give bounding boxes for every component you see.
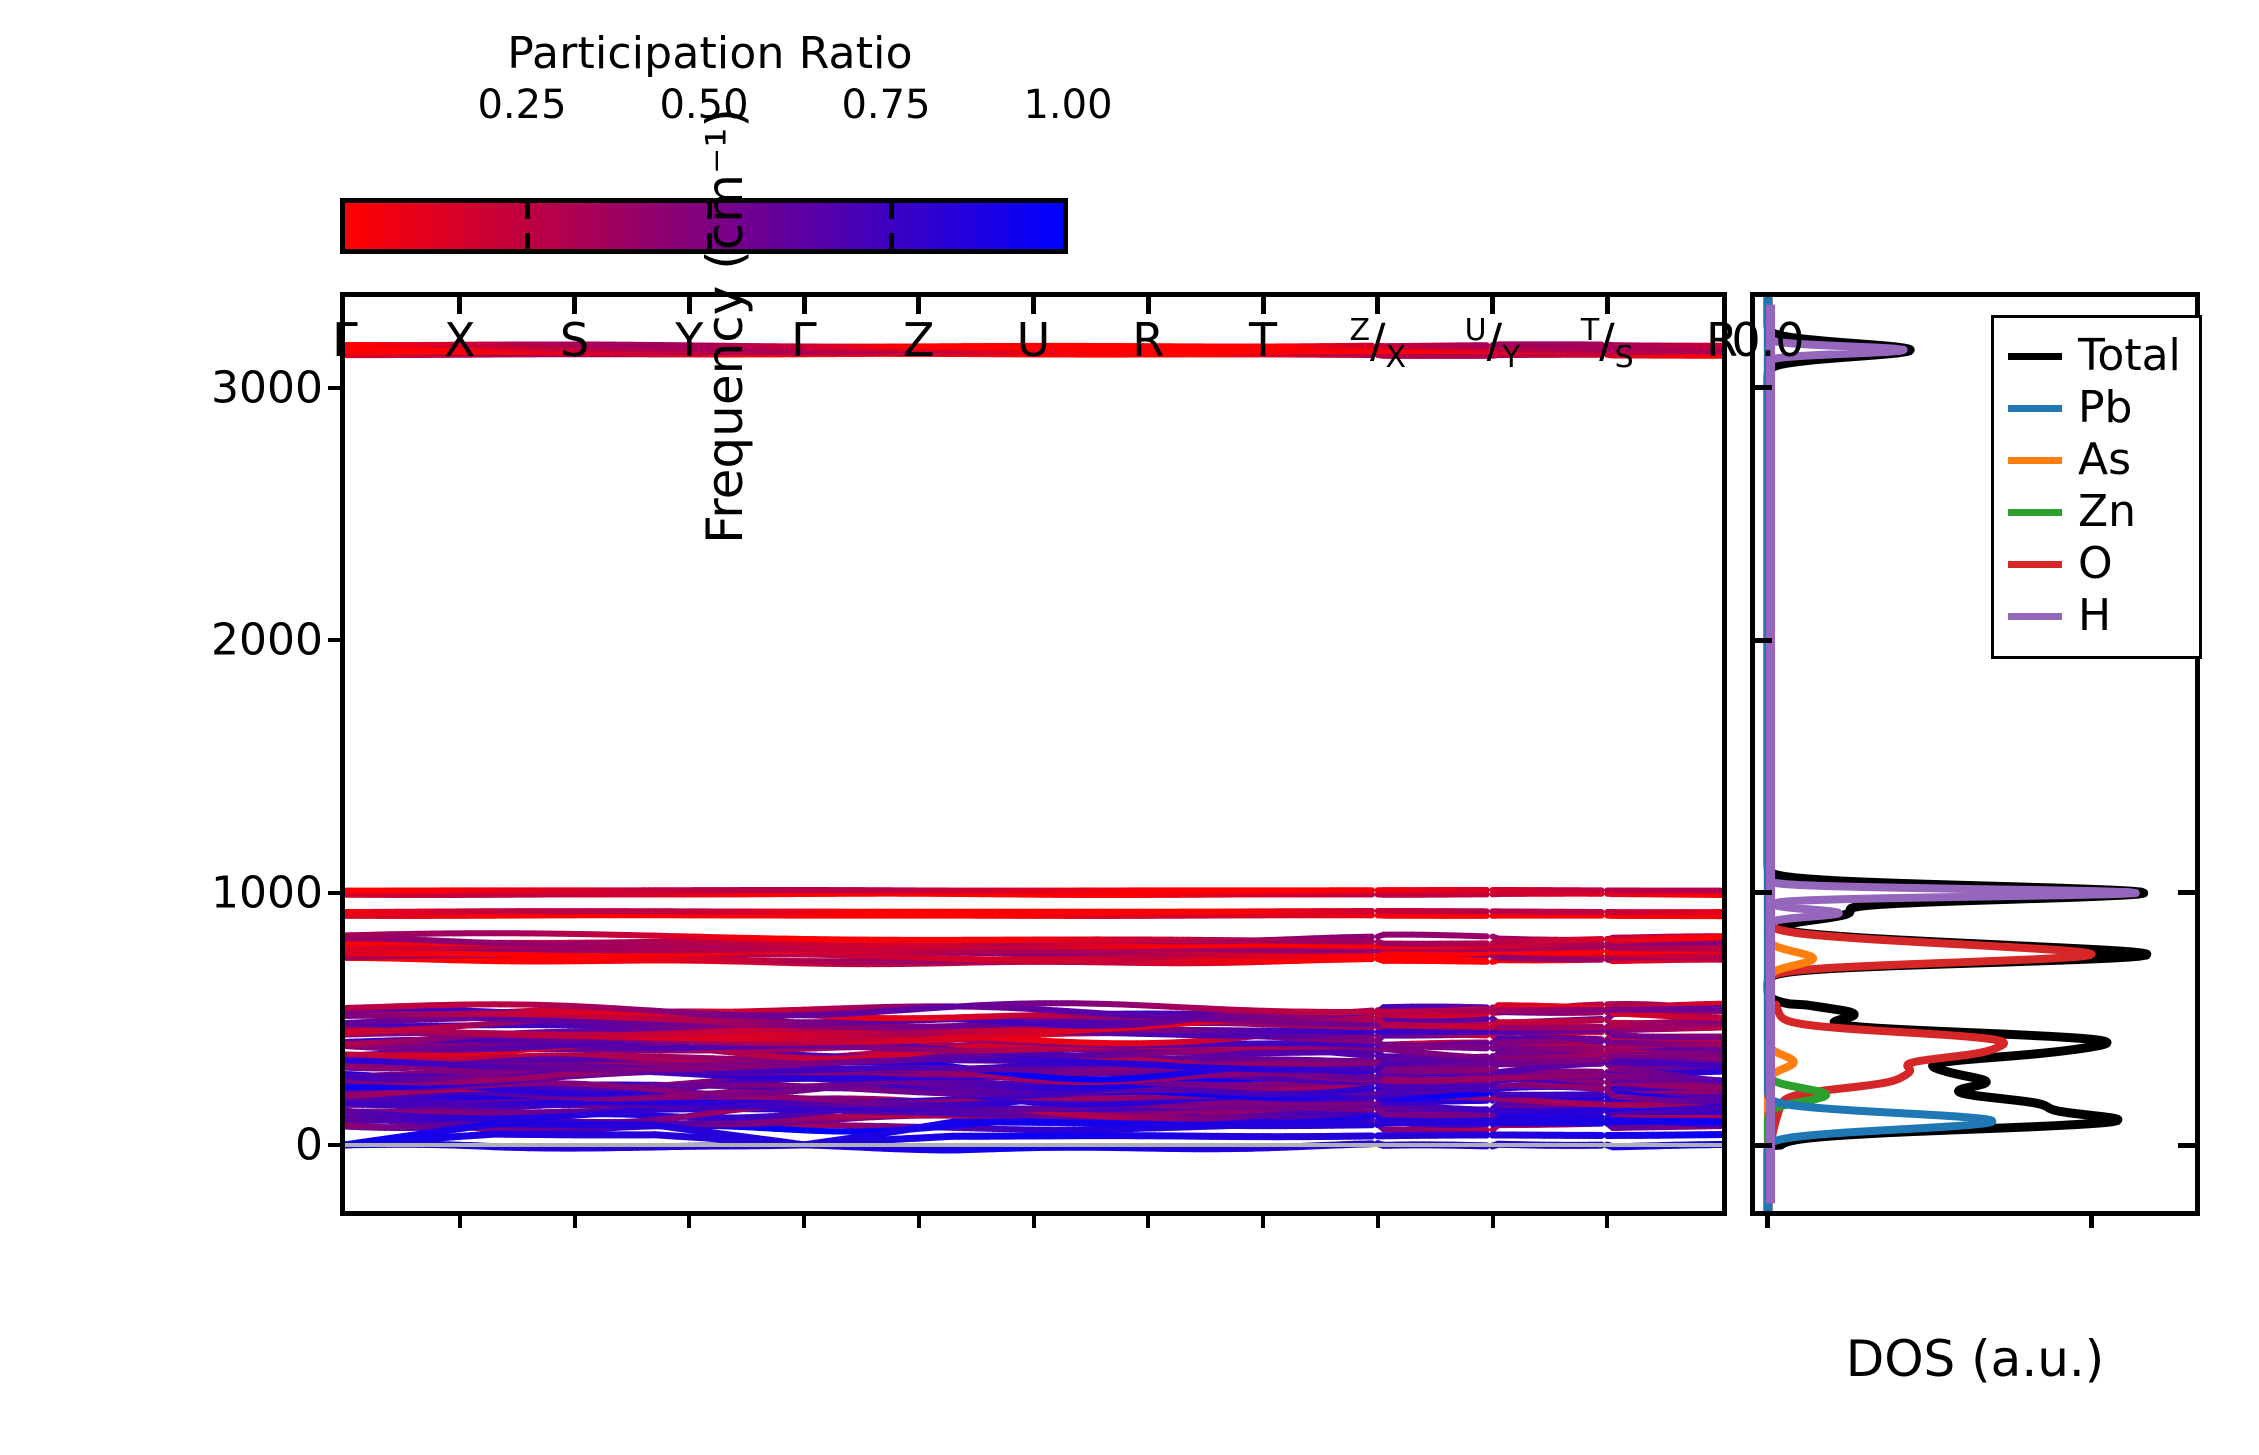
legend-label: H [2078,594,2111,638]
x-axis-tick [1261,1211,1265,1228]
x-axis-tick [1491,1211,1495,1228]
legend-label: Pb [2078,386,2132,430]
kpath-label: Γ [791,313,817,367]
x-axis-tick [1376,1211,1380,1228]
kpath-label: Z [903,313,935,367]
x-axis-tick [1146,1211,1150,1228]
dos-legend: TotalPbAsZnOH [1991,315,2202,659]
band-curves [345,297,1722,1211]
dos-x-tick [2089,1211,2094,1228]
legend-label: As [2078,438,2131,482]
kpath-label: Γ [332,313,358,367]
legend-item: Zn [2008,486,2181,538]
colorbar-tick-mark [889,233,894,249]
x-axis-tick-top [1031,297,1036,314]
legend-color-swatch [2008,561,2062,568]
x-axis-tick-top [572,297,577,314]
band-plot-area [345,297,1722,1211]
legend-color-swatch [2008,405,2062,412]
y-axis-tick [328,1143,345,1147]
legend-color-swatch [2008,613,2062,620]
kpath-label: U [1017,313,1051,367]
zero-frequency-line [345,1143,1722,1147]
y-axis-title: Frequency (cm⁻¹) [696,0,754,706]
y-axis-tick [328,638,345,642]
x-axis-tick [687,1211,691,1228]
colorbar-tick-mark [525,233,530,249]
kpath-label: Z/X [1349,313,1406,375]
dos-y-tick [1755,638,1772,643]
y-axis-tick-label: 3000 [83,362,323,413]
dos-y-tick [2178,1143,2195,1148]
x-axis-tick-top [802,297,807,314]
dos-x-tick-label: 0.0 [1731,313,1804,367]
x-axis-tick [573,1211,577,1228]
legend-color-swatch [2008,457,2062,464]
y-axis-tick-label: 1000 [83,867,323,918]
dos-y-tick [1755,1143,1772,1148]
x-axis-tick-top [1490,297,1495,314]
phonon-dos-axes: 0.00.5 TotalPbAsZnOH [1750,292,2200,1216]
legend-item: As [2008,434,2181,486]
x-axis-tick [1605,1211,1609,1228]
y-axis-tick [328,891,345,895]
legend-label: Zn [2078,490,2136,534]
colorbar-tick-mark [889,203,894,219]
x-axis-tick-top [1375,297,1380,314]
kpath-label: T/S [1581,313,1634,375]
legend-item: Pb [2008,382,2181,434]
dos-y-tick [1755,890,1772,895]
x-axis-tick [458,1211,462,1228]
x-axis-tick [917,1211,921,1228]
dos-y-tick [1755,385,1772,390]
x-axis-tick-top [1146,297,1151,314]
phonon-band-structure-axes: 0100020003000 ΓXSYΓZURTZ/XU/YT/SR Freque… [340,292,1727,1216]
x-axis-tick-top [687,297,692,314]
colorbar-tick-mark [525,203,530,219]
kpath-label: T [1249,313,1277,367]
kpath-label: S [560,313,589,367]
dos-y-tick [2178,890,2195,895]
dos-x-tick [1765,1211,1770,1228]
colorbar-tick-label: 1.00 [1023,82,1112,128]
kpath-label: U/Y [1465,313,1521,375]
y-axis-tick-label: 0 [83,1120,323,1171]
y-axis-title-text: Frequency (cm⁻¹) [696,108,754,544]
kpath-label: X [444,313,476,367]
legend-item: O [2008,538,2181,590]
x-axis-tick-top [457,297,462,314]
legend-item: H [2008,590,2181,642]
legend-color-swatch [2008,353,2062,360]
x-axis-tick [802,1211,806,1228]
legend-label: Total [2078,334,2181,378]
legend-color-swatch [2008,509,2062,516]
legend-item: Total [2008,330,2181,382]
x-axis-tick-top [1261,297,1266,314]
colorbar-tick-label: 0.25 [477,82,566,128]
x-axis-tick-top [1605,297,1610,314]
dos-x-axis-title: DOS (a.u.) [1750,1330,2200,1388]
x-axis-tick-top [916,297,921,314]
legend-label: O [2078,542,2113,586]
x-axis-tick [1032,1211,1036,1228]
y-axis-tick [328,386,345,390]
y-axis-tick-label: 2000 [83,615,323,666]
kpath-label: R [1132,313,1164,367]
colorbar-tick-label: 0.75 [841,82,930,128]
